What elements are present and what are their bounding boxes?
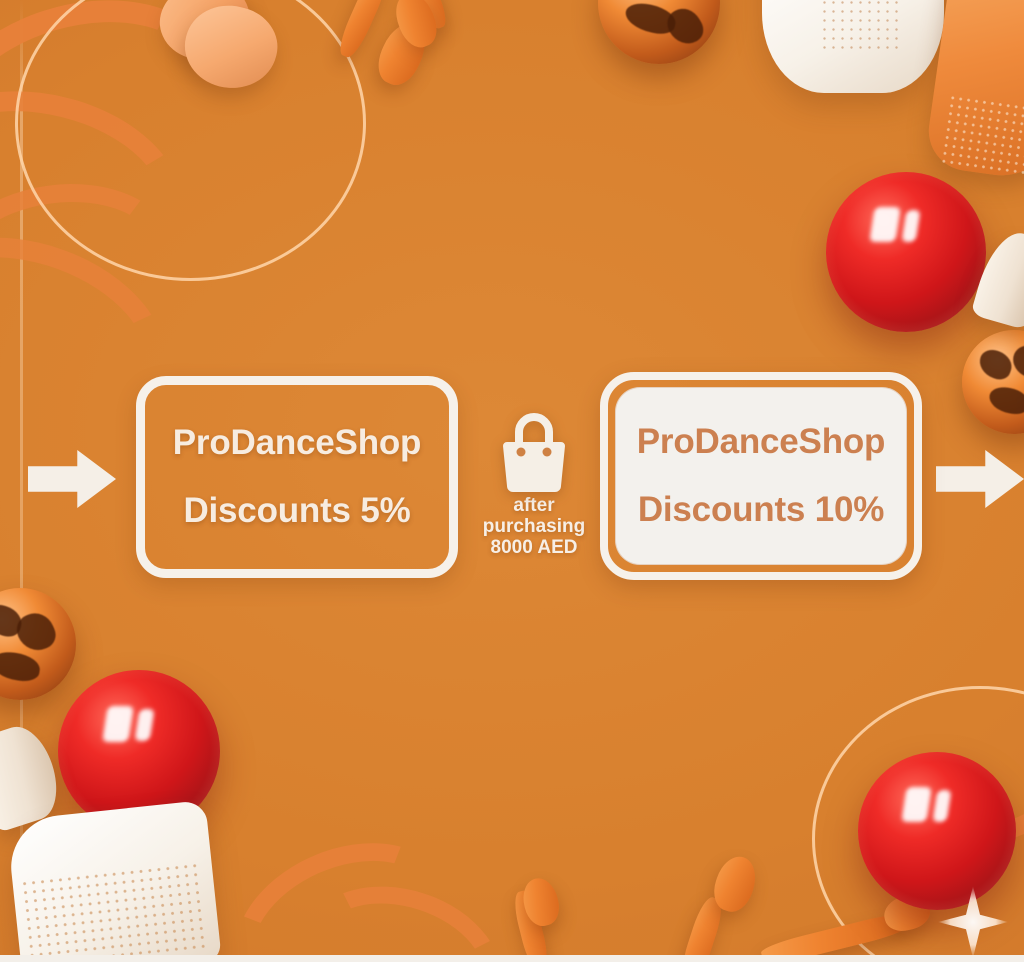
right-card-inner: ProDanceShop Discounts 10% — [615, 387, 907, 565]
left-card-brand: ProDanceShop — [173, 423, 421, 463]
leotard-rhinestones — [940, 93, 1024, 176]
shopping-bag-icon — [495, 412, 573, 494]
right-card-offer: Discounts 10% — [638, 490, 884, 530]
promo-banner: ProDanceShop Discounts 5% after purchasi… — [0, 0, 1024, 962]
purchase-condition-note: after purchasing 8000 AED — [468, 412, 600, 557]
right-card-brand: ProDanceShop — [637, 422, 885, 462]
discount-card-right[interactable]: ProDanceShop Discounts 10% — [600, 372, 922, 580]
note-line-3: 8000 AED — [491, 538, 578, 557]
bottom-strip — [0, 955, 1024, 962]
red-ball — [826, 172, 986, 332]
note-line-2: purchasing — [483, 517, 585, 536]
note-line-1: after — [513, 496, 554, 515]
leotard-rhinestones — [820, 0, 900, 50]
leotard-rhinestones — [20, 861, 209, 962]
discount-card-left[interactable]: ProDanceShop Discounts 5% — [136, 376, 458, 578]
left-card-offer: Discounts 5% — [183, 491, 410, 531]
red-ball — [858, 752, 1016, 910]
